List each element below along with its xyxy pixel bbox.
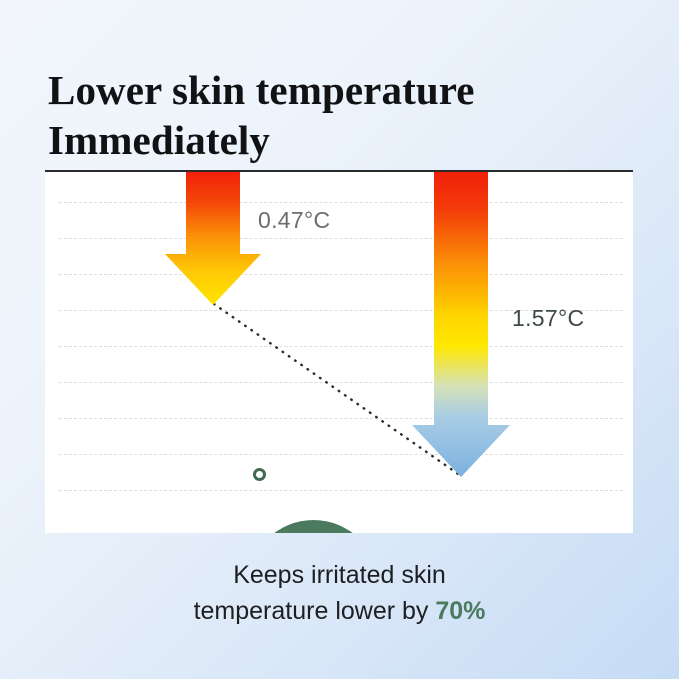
caption-line-2: temperature lower by 70% (0, 594, 679, 630)
gridline (59, 418, 623, 419)
caption-highlight-percent: 70% (435, 597, 485, 625)
chart-plot-area: 70% (45, 172, 633, 533)
caption-line-2-prefix: temperature lower by (194, 597, 436, 625)
gridline (59, 490, 623, 491)
gridline (59, 454, 623, 455)
gridline (59, 238, 623, 239)
caption-line-1: Keeps irritated skin (0, 558, 679, 594)
gridline (59, 382, 623, 383)
temperature-label-left: 0.47°C (258, 207, 330, 234)
temperature-label-right: 1.57°C (512, 305, 584, 332)
gridline (59, 202, 623, 203)
gridline (59, 274, 623, 275)
gridline (59, 346, 623, 347)
arrow-left-temperature-drop (165, 172, 261, 306)
page-title: Lower skin temperature Immediately (48, 65, 628, 165)
percent-badge: 70% (248, 520, 379, 533)
data-point-marker-left (253, 468, 266, 481)
caption: Keeps irritated skin temperature lower b… (0, 558, 679, 629)
chart-panel: 70% (45, 170, 633, 533)
connector-line (45, 172, 633, 533)
infographic-root: Lower skin temperature Immediately (0, 0, 679, 679)
arrow-right-temperature-drop (412, 172, 510, 478)
